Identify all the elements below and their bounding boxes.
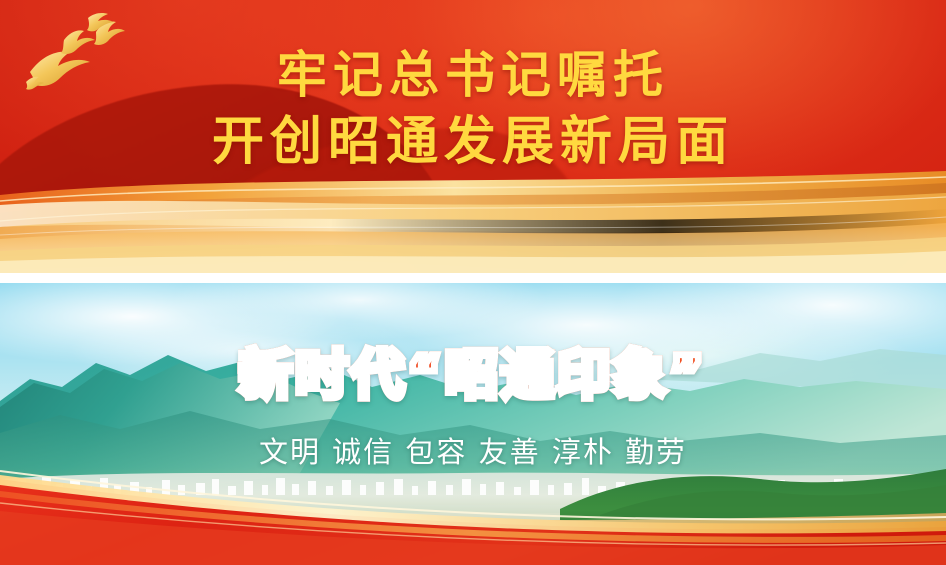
- top-red-banner: 牢记总书记嘱托 开创昭通发展新局面: [0, 0, 946, 273]
- bottom-banner-title: 新时代“昭通印象”: [0, 333, 946, 409]
- bottom-scenic-banner: 新时代“昭通印象” 文明 诚信 包容 友善 淳朴 勤劳: [0, 283, 946, 565]
- banner-separator: [0, 273, 946, 283]
- top-banner-title-line1: 牢记总书记嘱托: [0, 46, 946, 104]
- top-banner-title-line2: 开创昭通发展新局面: [0, 112, 946, 172]
- top-banner-title: 牢记总书记嘱托 开创昭通发展新局面: [0, 46, 946, 172]
- bottom-banner-subtitle: 文明 诚信 包容 友善 淳朴 勤劳: [0, 429, 946, 471]
- golden-silk-ribbon-icon: [0, 165, 946, 273]
- banner-page: 牢记总书记嘱托 开创昭通发展新局面: [0, 0, 946, 565]
